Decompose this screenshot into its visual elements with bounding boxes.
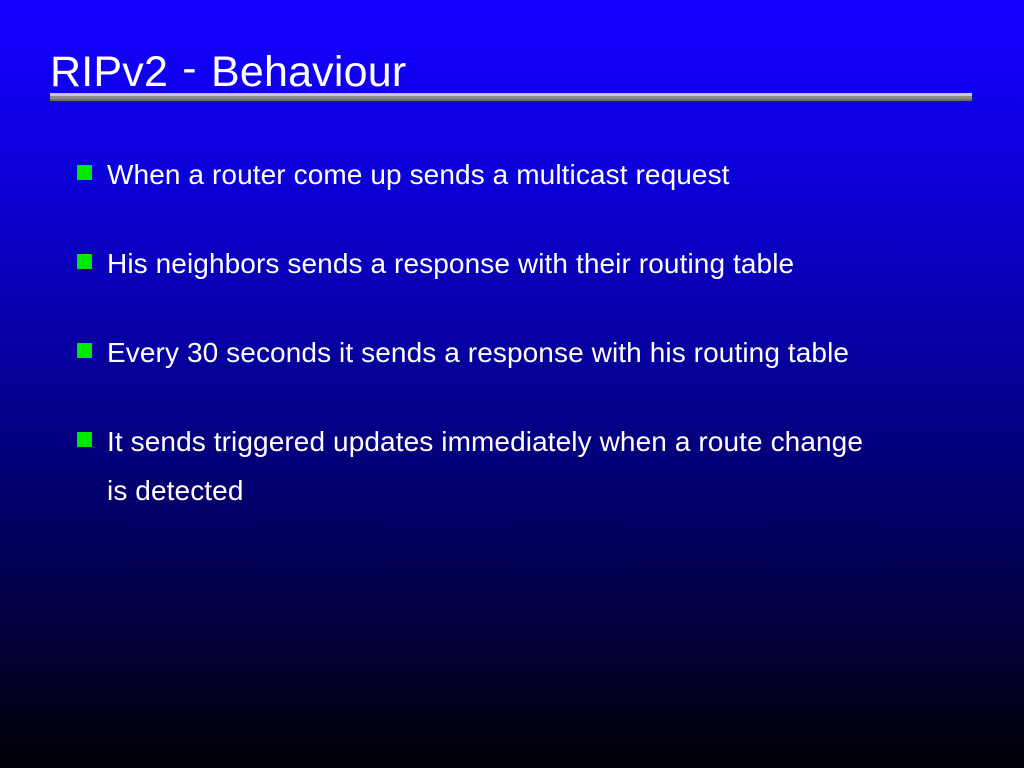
title-prefix: RIPv2 [50,48,168,96]
green-square-bullet-icon [77,343,92,358]
list-item: It sends triggered updates immediately w… [77,417,977,515]
green-square-bullet-icon [77,254,92,269]
title-separator: - [180,44,199,92]
list-item: When a router come up sends a multicast … [77,150,977,199]
title-block: RIPv2 - Behaviour [50,44,972,96]
bullet-text: When a router come up sends a multicast … [107,150,977,199]
bullet-text: His neighbors sends a response with thei… [107,239,977,288]
list-item: Every 30 seconds it sends a response wit… [77,328,977,377]
bullet-text: Every 30 seconds it sends a response wit… [107,328,907,377]
list-item: His neighbors sends a response with thei… [77,239,977,288]
title-suffix: Behaviour [211,48,406,96]
title-underline-rule [50,93,972,101]
page-title: RIPv2 - Behaviour [50,44,972,96]
bullet-text: It sends triggered updates immediately w… [107,417,889,515]
green-square-bullet-icon [77,165,92,180]
presentation-slide: RIPv2 - Behaviour When a router come up … [0,0,1024,768]
green-square-bullet-icon [77,432,92,447]
bullet-list: When a router come up sends a multicast … [77,150,977,515]
